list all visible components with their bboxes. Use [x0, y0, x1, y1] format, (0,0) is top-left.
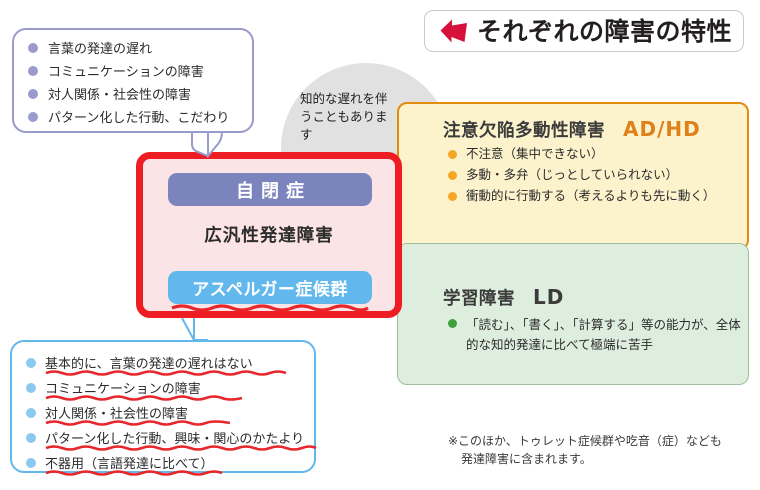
- autism-item-label: パターン化した行動、こだわり: [48, 107, 229, 126]
- autism-item-label: 対人関係・社会性の障害: [48, 84, 191, 103]
- adhd-item-label: 多動・多弁（じっとしていられない）: [466, 167, 678, 184]
- asperger-label: アスペルガー症候群: [192, 275, 348, 300]
- autism-pill: 自閉症: [168, 173, 372, 206]
- autism-callout-tail: [188, 130, 226, 158]
- footnote: ※このほか、トゥレット症候群や吃音（症）なども 発達障害に含まれます。: [448, 432, 748, 468]
- bullet-dot-icon: [28, 66, 38, 76]
- ld-abbreviation: LD: [533, 285, 564, 309]
- bullet-dot-icon: [448, 192, 457, 201]
- adhd-title: 注意欠陥多動性障害: [443, 117, 605, 142]
- autism-feature-list: 言葉の発達の遅れ コミュニケーションの障害 対人関係・社会性の障害 パターン化し…: [28, 36, 248, 128]
- list-item: 不注意（集中できない）: [448, 146, 744, 163]
- bullet-dot-icon: [26, 383, 36, 393]
- ld-feature-list: 「読む」、「書く」、「計算する」等の能力が、全体的な知的発達に比べて極端に苦手: [448, 315, 744, 355]
- bullet-dot-icon: [28, 112, 38, 122]
- page-title-box: それぞれの障害の特性: [424, 10, 744, 52]
- page-title: それぞれの障害の特性: [477, 19, 732, 44]
- ld-title: 学習障害: [443, 285, 515, 310]
- asperger-underline-scribble: [170, 303, 370, 311]
- bullet-dot-icon: [448, 319, 457, 328]
- autism-item-label: 言葉の発達の遅れ: [48, 38, 152, 57]
- list-item: 言葉の発達の遅れ: [28, 36, 248, 59]
- list-item: コミュニケーションの障害: [28, 59, 248, 82]
- bullet-dot-icon: [26, 458, 36, 468]
- autism-item-label: コミュニケーションの障害: [48, 61, 204, 80]
- adhd-abbreviation: AD/HD: [623, 117, 701, 141]
- list-item: 「読む」、「書く」、「計算する」等の能力が、全体的な知的発達に比べて極端に苦手: [448, 315, 744, 355]
- bullet-dot-icon: [26, 408, 36, 418]
- red-left-arrow-icon: [439, 17, 469, 45]
- ld-heading: 学習障害 LD: [443, 285, 564, 310]
- intellectual-delay-note: 知的な遅れを伴うこともあります: [300, 90, 392, 144]
- adhd-feature-list: 不注意（集中できない） 多動・多弁（じっとしていられない） 衝動的に行動する（考…: [448, 146, 744, 209]
- ld-panel: [397, 243, 749, 385]
- autism-label: 自閉症: [229, 177, 311, 203]
- list-item: 対人関係・社会性の障害: [28, 82, 248, 105]
- pdd-label: 広汎性発達障害: [136, 222, 402, 247]
- list-item: 基本的に、言葉の発達の遅れはない: [26, 350, 316, 375]
- list-item: 衝動的に行動する（考えるよりも先に動く）: [448, 188, 744, 205]
- ld-item-label: 「読む」、「書く」、「計算する」等の能力が、全体的な知的発達に比べて極端に苦手: [466, 315, 744, 355]
- footnote-line-1: ※このほか、トゥレット症候群や吃音（症）なども: [448, 434, 722, 448]
- bullet-dot-icon: [26, 433, 36, 443]
- diagram-canvas: それぞれの障害の特性 知的な遅れを伴うこともあります 注意欠陥多動性障害 AD/…: [0, 0, 760, 490]
- asperger-pill: アスペルガー症候群: [168, 271, 372, 304]
- bullet-dot-icon: [448, 171, 457, 180]
- bullet-dot-icon: [28, 89, 38, 99]
- list-item: パターン化した行動、興味・関心のかたより: [26, 425, 316, 450]
- adhd-heading: 注意欠陥多動性障害 AD/HD: [443, 117, 701, 142]
- footnote-line-2: 発達障害に含まれます。: [448, 450, 748, 468]
- bullet-dot-icon: [28, 43, 38, 53]
- list-item: 多動・多弁（じっとしていられない）: [448, 167, 744, 184]
- adhd-item-label: 衝動的に行動する（考えるよりも先に動く）: [466, 188, 715, 205]
- asperger-callout-tail: [178, 316, 212, 342]
- bullet-dot-icon: [448, 150, 457, 159]
- asperger-feature-list: 基本的に、言葉の発達の遅れはない コミュニケーションの障害 対人関係・社会性の障…: [26, 350, 316, 475]
- red-underline-scribble: [45, 469, 223, 476]
- list-item: 対人関係・社会性の障害: [26, 400, 316, 425]
- adhd-item-label: 不注意（集中できない）: [466, 146, 604, 163]
- bullet-dot-icon: [26, 358, 36, 368]
- list-item: 不器用（言語発達に比べて）: [26, 450, 316, 475]
- list-item: コミュニケーションの障害: [26, 375, 316, 400]
- list-item: パターン化した行動、こだわり: [28, 105, 248, 128]
